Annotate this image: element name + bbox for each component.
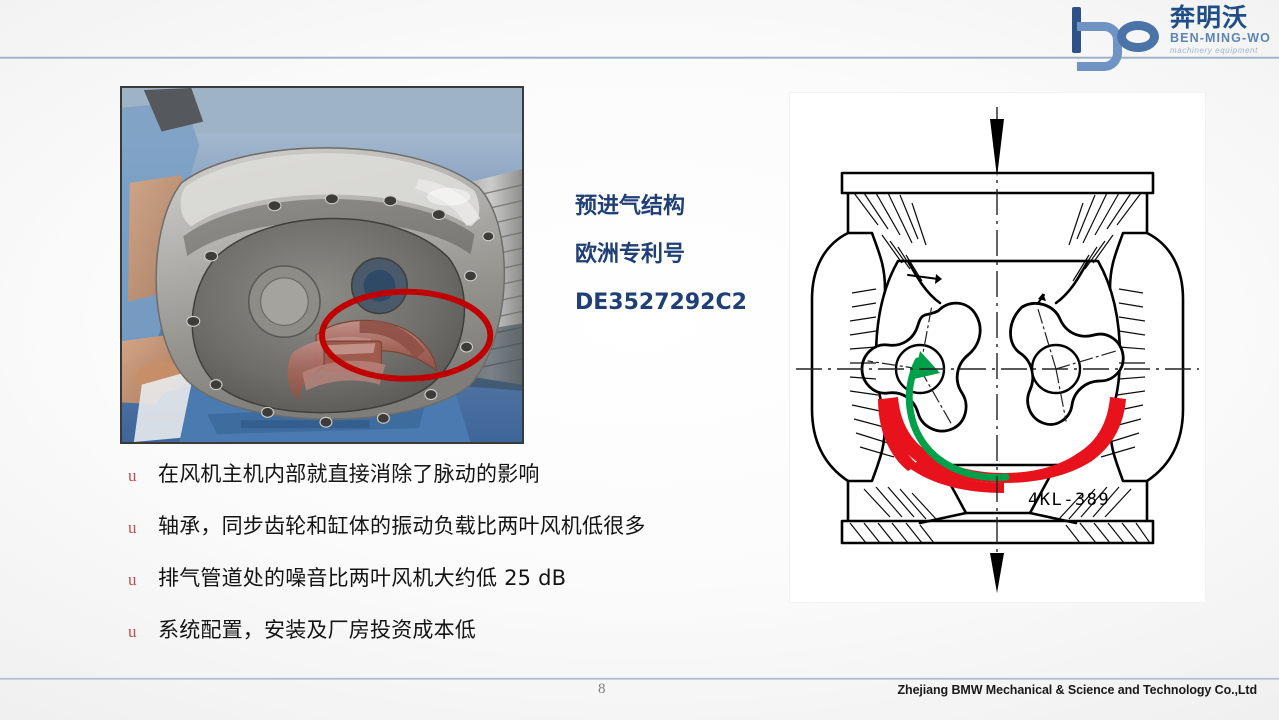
logo-wordmark: 奔明沃 BEN-MING-WO machinery equipment [1170,5,1271,55]
bo-monogram-icon [1070,6,1166,54]
list-item: u 系统配置，安装及厂房投资成本低 [120,614,780,666]
drawing-model-label: 4KL-389 [1028,490,1110,510]
blower-housing-photo [120,86,524,444]
bullet-text: 排气管道处的噪音比两叶风机大约低 25 dB [158,562,566,592]
title-line-1: 预进气结构 [575,196,800,218]
bullet-marker-icon: u [120,518,158,538]
bullet-marker-icon: u [120,466,158,486]
photo-illustration [122,88,522,442]
page-number: 8 [598,681,606,698]
slide-header: 奔明沃 BEN-MING-WO machinery equipment [0,0,1279,60]
bullet-text: 轴承，同步齿轮和缸体的振动负载比两叶风机低很多 [158,510,646,540]
list-item: u 轴承，同步齿轮和缸体的振动负载比两叶风机低很多 [120,510,780,562]
logo-letter-b-icon [1072,7,1114,53]
bullet-list: u 在风机主机内部就直接消除了脉动的影响 u 轴承，同步齿轮和缸体的振动负载比两… [120,458,780,666]
bullet-text: 在风机主机内部就直接消除了脉动的影响 [158,458,540,488]
list-item: u 在风机主机内部就直接消除了脉动的影响 [120,458,780,510]
blower-cross-section-diagram: 4KL-389 [790,93,1205,602]
footer-company-name: Zhejiang BMW Mechanical & Science and Te… [898,683,1258,697]
company-logo: 奔明沃 BEN-MING-WO machinery equipment [1001,3,1271,57]
technical-drawing-panel: 4KL-389 [790,93,1205,602]
bullet-text: 系统配置，安装及厂房投资成本低 [158,614,476,644]
title-line-3-patent-number: DE3527292C2 [575,292,800,314]
bullet-marker-icon: u [120,622,158,642]
photo-canvas [122,88,522,442]
footer-divider [0,677,1279,680]
bullet-marker-icon: u [120,570,158,590]
logo-brand-cn: 奔明沃 [1170,5,1248,30]
logo-letter-o-icon [1117,21,1159,52]
page-title: 预进气结构 欧洲专利号 DE3527292C2 [575,196,800,314]
title-line-2: 欧洲专利号 [575,244,800,266]
list-item: u 排气管道处的噪音比两叶风机大约低 25 dB [120,562,780,614]
logo-brand-en: BEN-MING-WO [1170,32,1271,45]
logo-tagline: machinery equipment [1170,47,1258,55]
